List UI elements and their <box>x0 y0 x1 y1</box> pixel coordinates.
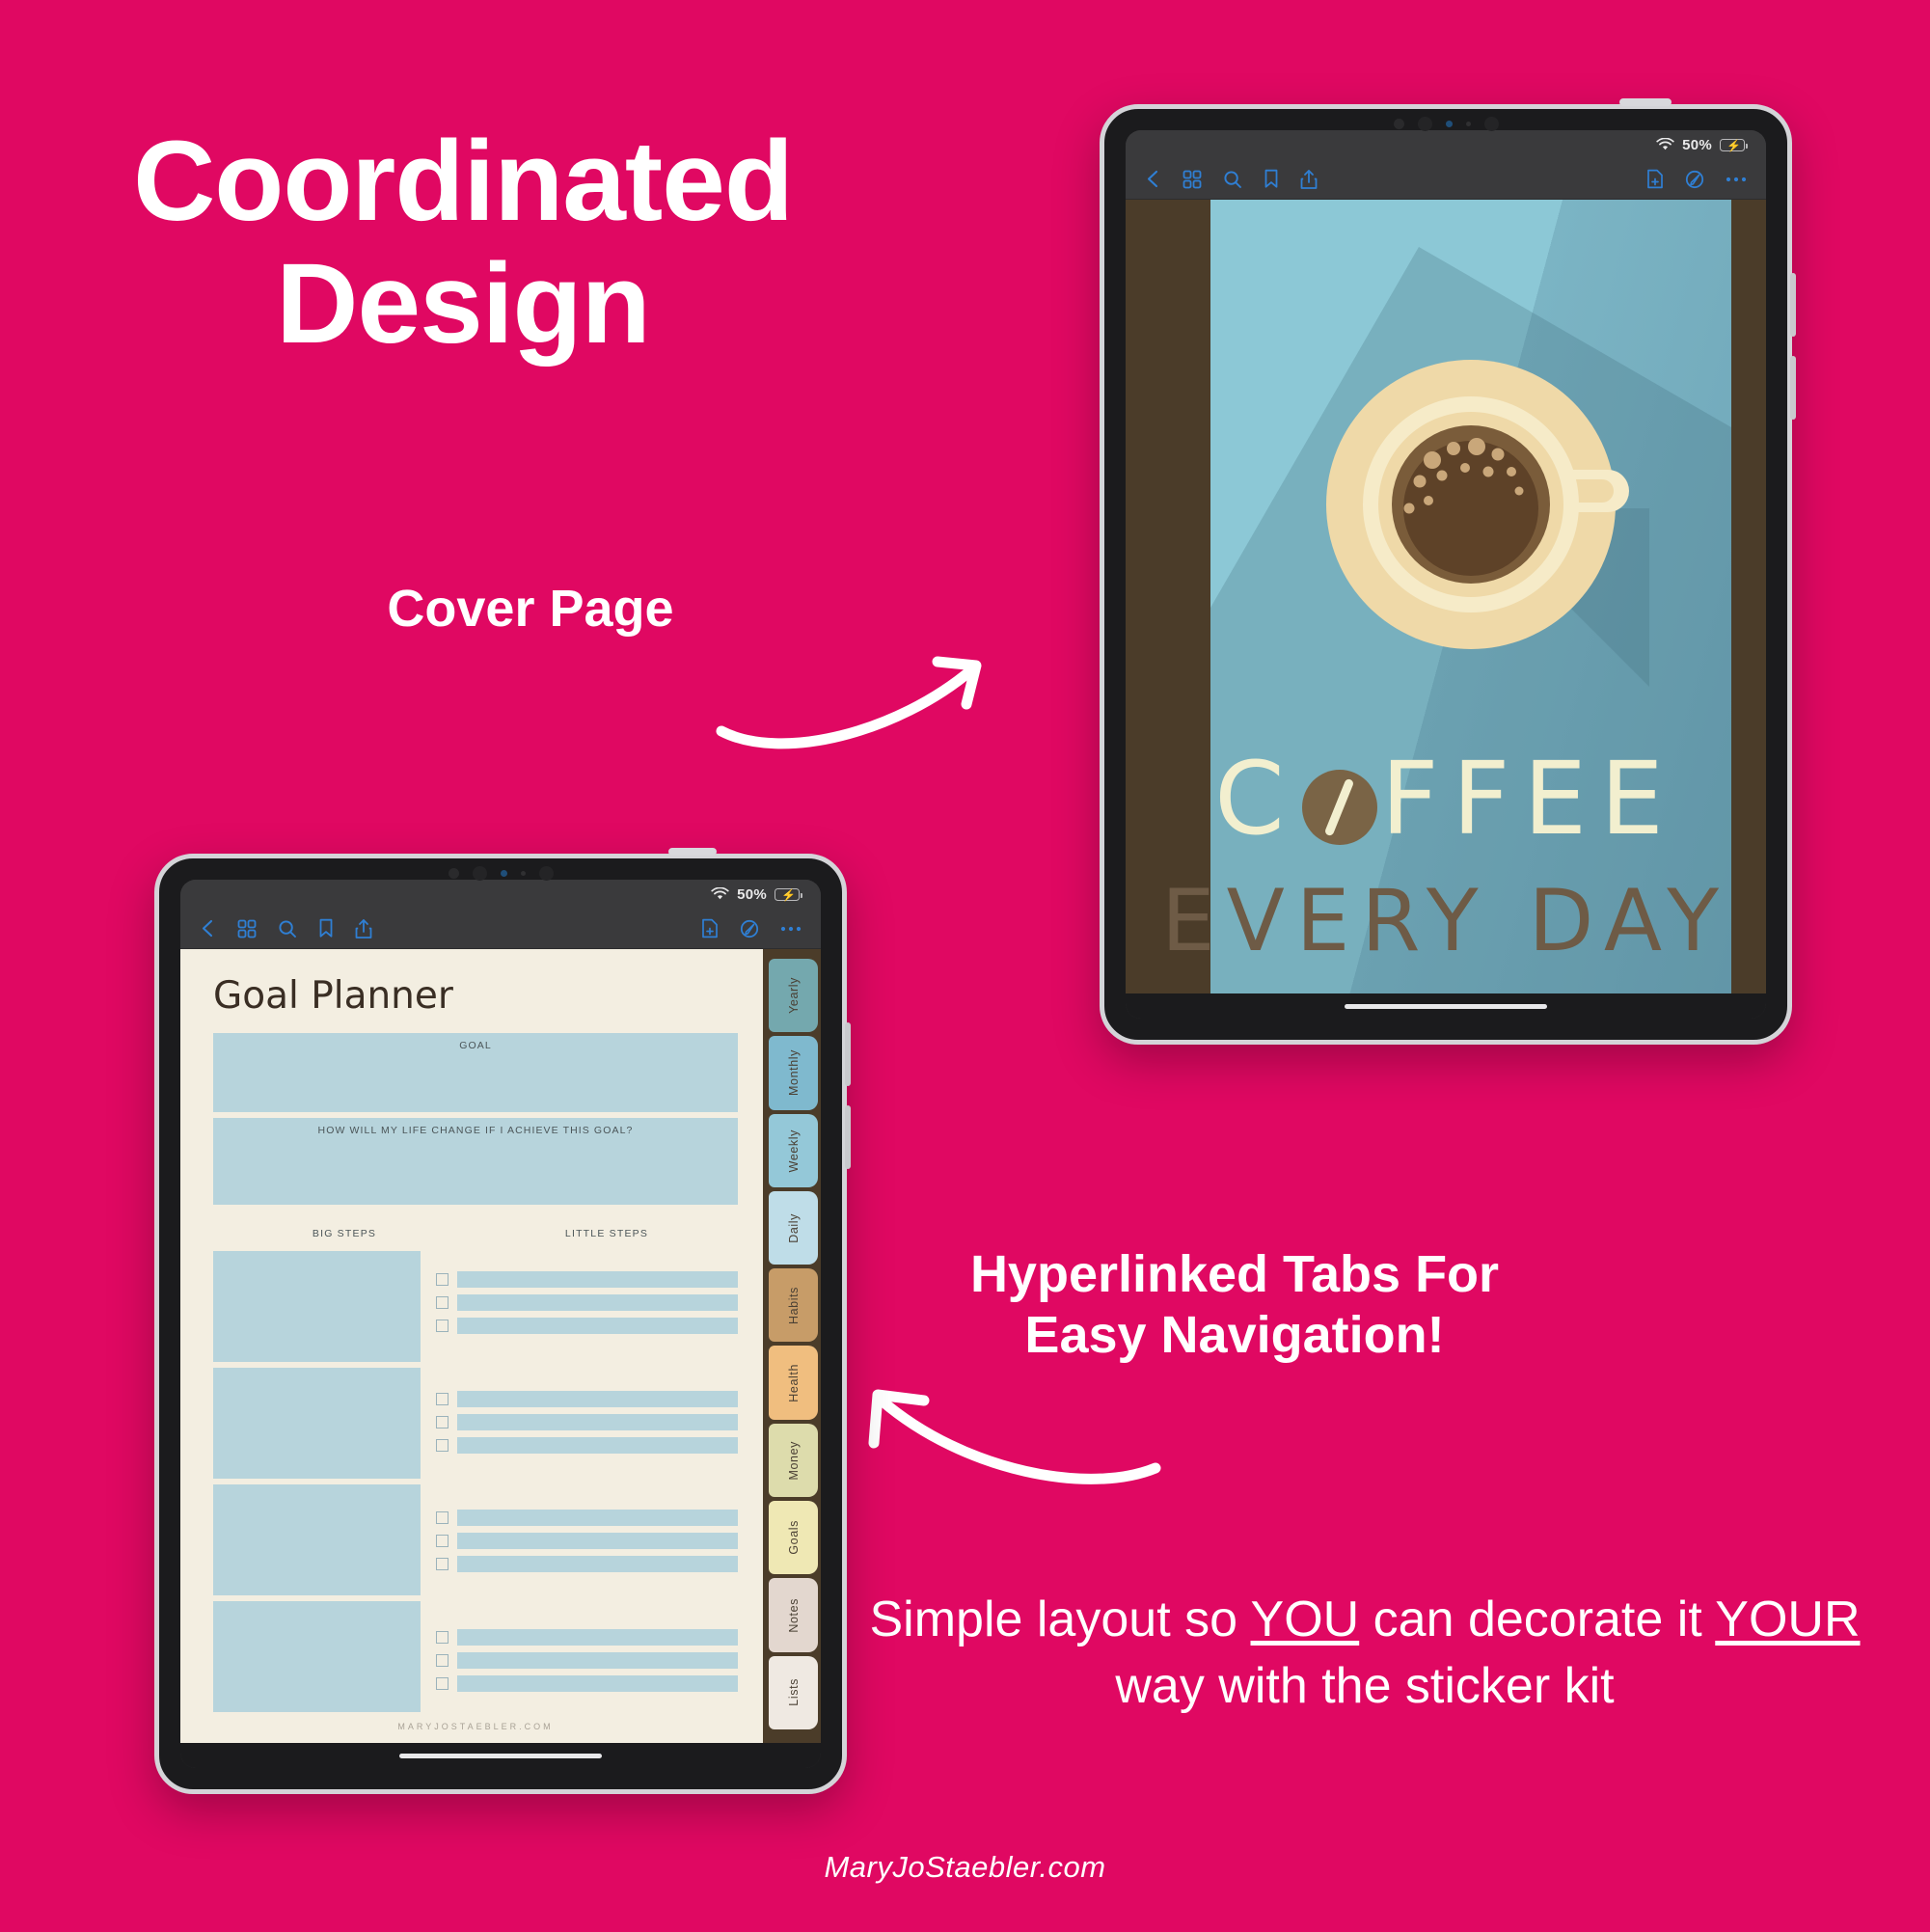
toolbar-planner <box>180 909 821 949</box>
little-step-row[interactable] <box>436 1437 738 1454</box>
tabs-annotation: Hyperlinked Tabs For Easy Navigation! <box>897 1244 1572 1365</box>
little-step-row[interactable] <box>436 1675 738 1692</box>
screen-planner: 50% ⚡ <box>180 880 821 1768</box>
ipad-device-cover: 50% ⚡ <box>1100 104 1792 1045</box>
sensor-dot-icon <box>449 868 459 879</box>
planner-tab-strip: YearlyMonthlyWeeklyDailyHabitsHealthMone… <box>763 949 821 1743</box>
little-step-line[interactable] <box>457 1533 738 1549</box>
planner-tab-habits[interactable]: Habits <box>769 1268 818 1342</box>
footer-website: MaryJoStaebler.com <box>0 1850 1930 1885</box>
little-step-line[interactable] <box>457 1294 738 1311</box>
cover-title-line1: CFFEE <box>1126 740 1766 857</box>
home-indicator-pill[interactable] <box>399 1754 602 1758</box>
battery-percent-label-cover: 50% <box>1682 137 1712 153</box>
checkbox-icon[interactable] <box>436 1535 449 1547</box>
life-change-field[interactable]: HOW WILL MY LIFE CHANGE IF I ACHIEVE THI… <box>213 1118 738 1205</box>
add-page-icon[interactable] <box>701 918 719 939</box>
share-icon[interactable] <box>355 918 372 939</box>
body-copy-part3: way with the sticker kit <box>1115 1658 1614 1714</box>
body-copy-part1: Simple layout so <box>869 1592 1250 1647</box>
home-indicator-bar-planner[interactable] <box>180 1743 821 1768</box>
little-step-group <box>436 1251 738 1355</box>
planner-tab-label: Weekly <box>787 1129 801 1172</box>
battery-percent-label-planner: 50% <box>737 886 767 903</box>
little-steps-column <box>436 1251 738 1712</box>
wifi-icon <box>1656 138 1674 151</box>
back-chevron-icon[interactable] <box>1145 169 1161 189</box>
tabs-annotation-line1: Hyperlinked Tabs For <box>970 1245 1499 1303</box>
coffee-cup-illustration <box>1288 325 1654 692</box>
tabs-annotation-line2: Easy Navigation! <box>1024 1306 1444 1364</box>
grid-thumbnails-icon[interactable] <box>1182 170 1202 189</box>
home-indicator-bar-cover[interactable] <box>1126 993 1766 1019</box>
battery-charging-icon-cover: ⚡ <box>1720 139 1745 151</box>
volume-up-button[interactable] <box>1790 273 1796 337</box>
more-options-icon[interactable] <box>1726 176 1747 183</box>
little-step-row[interactable] <box>436 1294 738 1311</box>
ambient-sensor-icon <box>1466 122 1471 126</box>
planner-tab-label: Notes <box>787 1598 801 1633</box>
front-camera-icon <box>473 866 487 881</box>
little-step-row[interactable] <box>436 1510 738 1526</box>
wifi-icon <box>711 887 729 901</box>
little-step-group <box>436 1609 738 1713</box>
big-step-box[interactable] <box>213 1251 421 1362</box>
life-change-field-label: HOW WILL MY LIFE CHANGE IF I ACHIEVE THI… <box>318 1125 634 1136</box>
little-step-line[interactable] <box>457 1510 738 1526</box>
goal-field[interactable]: GOAL <box>213 1033 738 1112</box>
search-icon[interactable] <box>1223 170 1242 189</box>
volume-up-button-planner[interactable] <box>845 1022 851 1086</box>
depth-camera-icon <box>539 866 554 881</box>
goal-field-label: GOAL <box>459 1040 492 1051</box>
little-step-group <box>436 1489 738 1593</box>
back-chevron-icon[interactable] <box>200 918 216 939</box>
checkbox-icon[interactable] <box>436 1677 449 1690</box>
volume-down-button-planner[interactable] <box>845 1105 851 1169</box>
planner-tab-money[interactable]: Money <box>769 1424 818 1497</box>
depth-camera-icon <box>1484 117 1499 131</box>
page-title-line1: Coordinated <box>116 121 810 243</box>
little-step-line[interactable] <box>457 1556 738 1572</box>
little-step-row[interactable] <box>436 1556 738 1572</box>
search-icon[interactable] <box>278 919 297 939</box>
cover-title-line2: EVERY DAY <box>1126 871 1766 970</box>
little-step-row[interactable] <box>436 1271 738 1288</box>
planner-tab-monthly[interactable]: Monthly <box>769 1036 818 1109</box>
screen-cover: 50% ⚡ <box>1126 130 1766 1019</box>
little-step-row[interactable] <box>436 1318 738 1334</box>
big-step-box[interactable] <box>213 1368 421 1479</box>
sensor-dot-icon <box>1394 119 1404 129</box>
big-steps-column <box>213 1251 421 1712</box>
planner-page-title: Goal Planner <box>213 974 738 1018</box>
statusbar-cover: 50% ⚡ <box>1126 130 1766 159</box>
planner-tab-daily[interactable]: Daily <box>769 1191 818 1265</box>
ambient-sensor-icon <box>521 871 526 876</box>
apple-pencil-planner <box>668 848 717 856</box>
little-step-row[interactable] <box>436 1652 738 1669</box>
big-step-box[interactable] <box>213 1484 421 1595</box>
share-icon[interactable] <box>1300 169 1318 190</box>
coffee-cover-page: CFFEE EVERY DAY <box>1126 200 1766 993</box>
goal-planner-page: Goal Planner GOAL HOW WILL MY LIFE CHANG… <box>180 949 821 1743</box>
body-copy-part2: can decorate it <box>1359 1592 1715 1647</box>
big-step-box[interactable] <box>213 1601 421 1712</box>
planner-tab-goals[interactable]: Goals <box>769 1501 818 1574</box>
little-steps-header: LITTLE STEPS <box>476 1228 738 1239</box>
checkbox-icon[interactable] <box>436 1511 449 1524</box>
checkbox-icon[interactable] <box>436 1416 449 1429</box>
tabs-arrow-icon <box>849 1360 1167 1495</box>
toolbar-cover <box>1126 159 1766 200</box>
cover-title-block: CFFEE EVERY DAY <box>1126 740 1766 970</box>
battery-charging-icon-planner: ⚡ <box>775 888 800 901</box>
body-copy-emphasis-you: YOU <box>1251 1592 1360 1647</box>
steps-body <box>213 1251 738 1712</box>
grid-thumbnails-icon[interactable] <box>237 919 257 939</box>
little-step-line[interactable] <box>457 1271 738 1288</box>
planner-watermark: MARYJOSTAEBLER.COM <box>213 1712 738 1743</box>
little-step-line[interactable] <box>457 1318 738 1334</box>
planner-tab-label: Habits <box>787 1287 801 1324</box>
cover-page-annotation: Cover Page <box>318 579 743 639</box>
page-title-line2: Design <box>116 243 810 366</box>
bookmark-icon[interactable] <box>318 918 334 939</box>
add-page-icon[interactable] <box>1646 169 1664 189</box>
planner-tab-label: Yearly <box>787 977 801 1014</box>
little-step-group <box>436 1371 738 1475</box>
document-area-cover[interactable]: CFFEE EVERY DAY <box>1126 200 1766 993</box>
body-copy-emphasis-your: YOUR <box>1715 1592 1860 1647</box>
planner-tab-label: Lists <box>787 1678 801 1706</box>
little-step-line[interactable] <box>457 1437 738 1454</box>
planner-tab-label: Daily <box>787 1213 801 1243</box>
planner-tab-notes[interactable]: Notes <box>769 1578 818 1651</box>
home-indicator-pill[interactable] <box>1345 1004 1547 1009</box>
steps-column-headers: BIG STEPS LITTLE STEPS <box>213 1228 738 1239</box>
big-steps-header: BIG STEPS <box>213 1228 476 1239</box>
little-step-line[interactable] <box>457 1414 738 1430</box>
checkbox-icon[interactable] <box>436 1273 449 1286</box>
planner-page-content: Goal Planner GOAL HOW WILL MY LIFE CHANG… <box>180 949 763 1743</box>
planner-tab-label: Goals <box>787 1520 801 1555</box>
faceid-dot-icon <box>1446 121 1453 127</box>
faceid-dot-icon <box>501 870 507 877</box>
checkbox-icon[interactable] <box>436 1558 449 1570</box>
checkbox-icon[interactable] <box>436 1393 449 1405</box>
little-step-row[interactable] <box>436 1629 738 1646</box>
document-area-planner[interactable]: Goal Planner GOAL HOW WILL MY LIFE CHANG… <box>180 949 821 1743</box>
camera-sensor-row <box>1104 117 1787 131</box>
planner-tab-label: Monthly <box>787 1049 801 1096</box>
checkbox-icon[interactable] <box>436 1631 449 1644</box>
checkbox-icon[interactable] <box>436 1296 449 1309</box>
coffee-bean-letter-o-icon <box>1302 770 1377 845</box>
more-options-icon[interactable] <box>780 925 802 933</box>
cover-page-annotation-text: Cover Page <box>387 580 673 638</box>
camera-sensor-row-planner <box>159 866 842 881</box>
planner-tab-lists[interactable]: Lists <box>769 1656 818 1729</box>
planner-tab-label: Money <box>787 1441 801 1481</box>
little-step-row[interactable] <box>436 1414 738 1430</box>
volume-down-button[interactable] <box>1790 356 1796 420</box>
little-step-row[interactable] <box>436 1391 738 1407</box>
planner-tab-health[interactable]: Health <box>769 1346 818 1419</box>
little-step-line[interactable] <box>457 1675 738 1692</box>
checkbox-icon[interactable] <box>436 1320 449 1332</box>
planner-tab-label: Health <box>787 1364 801 1402</box>
bookmark-icon[interactable] <box>1264 169 1279 189</box>
edit-pen-icon[interactable] <box>740 919 759 939</box>
little-step-line[interactable] <box>457 1652 738 1669</box>
front-camera-icon <box>1418 117 1432 131</box>
little-step-row[interactable] <box>436 1533 738 1549</box>
planner-tab-yearly[interactable]: Yearly <box>769 959 818 1032</box>
planner-tab-weekly[interactable]: Weekly <box>769 1114 818 1187</box>
checkbox-icon[interactable] <box>436 1439 449 1452</box>
statusbar-planner: 50% ⚡ <box>180 880 821 909</box>
edit-pen-icon[interactable] <box>1685 170 1704 189</box>
apple-pencil <box>1619 98 1672 106</box>
little-step-line[interactable] <box>457 1391 738 1407</box>
checkbox-icon[interactable] <box>436 1654 449 1667</box>
little-step-line[interactable] <box>457 1629 738 1646</box>
page-title: Coordinated Design <box>116 121 810 367</box>
ipad-device-planner: 50% ⚡ <box>154 854 847 1794</box>
cover-page-arrow-icon <box>714 617 1022 752</box>
body-copy: Simple layout so YOU can decorate it YOU… <box>868 1587 1862 1719</box>
